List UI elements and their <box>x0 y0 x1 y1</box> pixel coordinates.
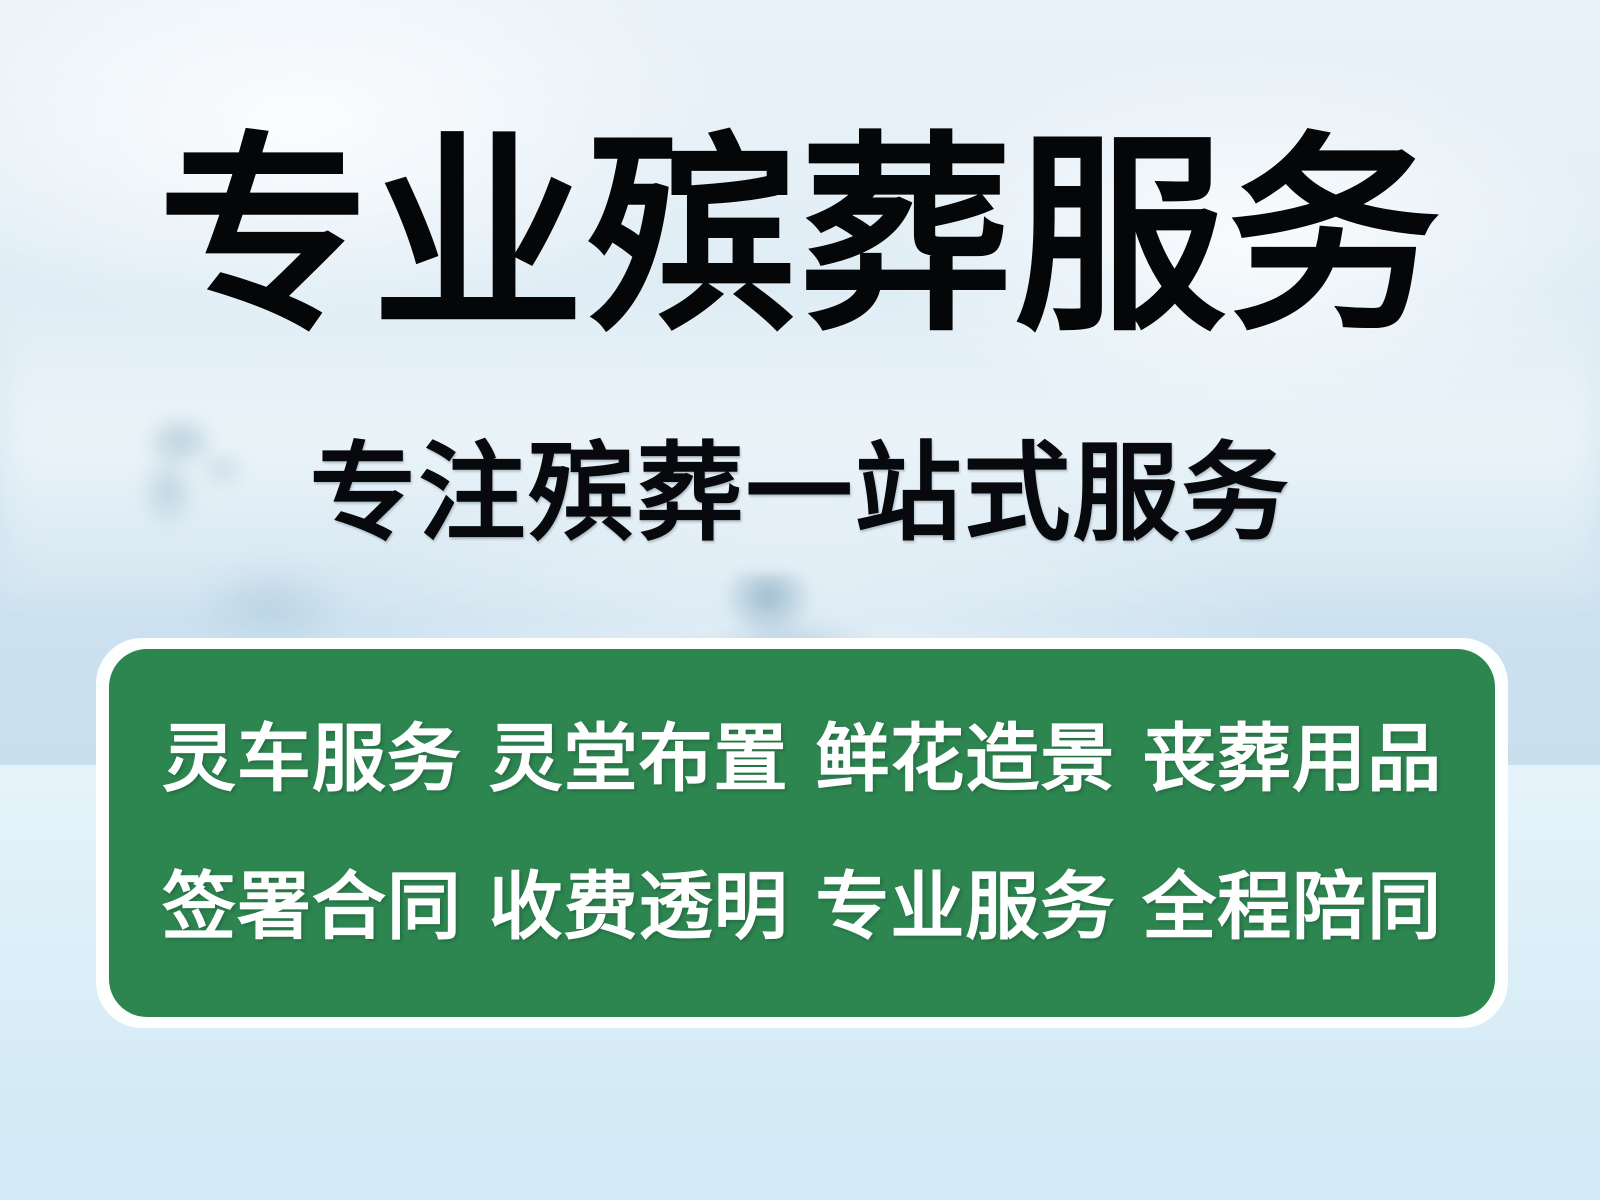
service-list-row-1: 灵车服务 灵堂布置 鲜花造景 丧葬用品 <box>162 707 1442 811</box>
page-title: 专业殡葬服务 <box>0 118 1600 354</box>
service-list-row-2: 签署合同 收费透明 专业服务 全程陪同 <box>162 855 1442 959</box>
poster-canvas: 专业殡葬服务 专注殡葬一站式服务 灵车服务 灵堂布置 鲜花造景 丧葬用品 签署合… <box>0 0 1600 1200</box>
service-panel: 灵车服务 灵堂布置 鲜花造景 丧葬用品 签署合同 收费透明 专业服务 全程陪同 <box>109 649 1495 1017</box>
page-subtitle: 专注殡葬一站式服务 <box>0 432 1600 556</box>
